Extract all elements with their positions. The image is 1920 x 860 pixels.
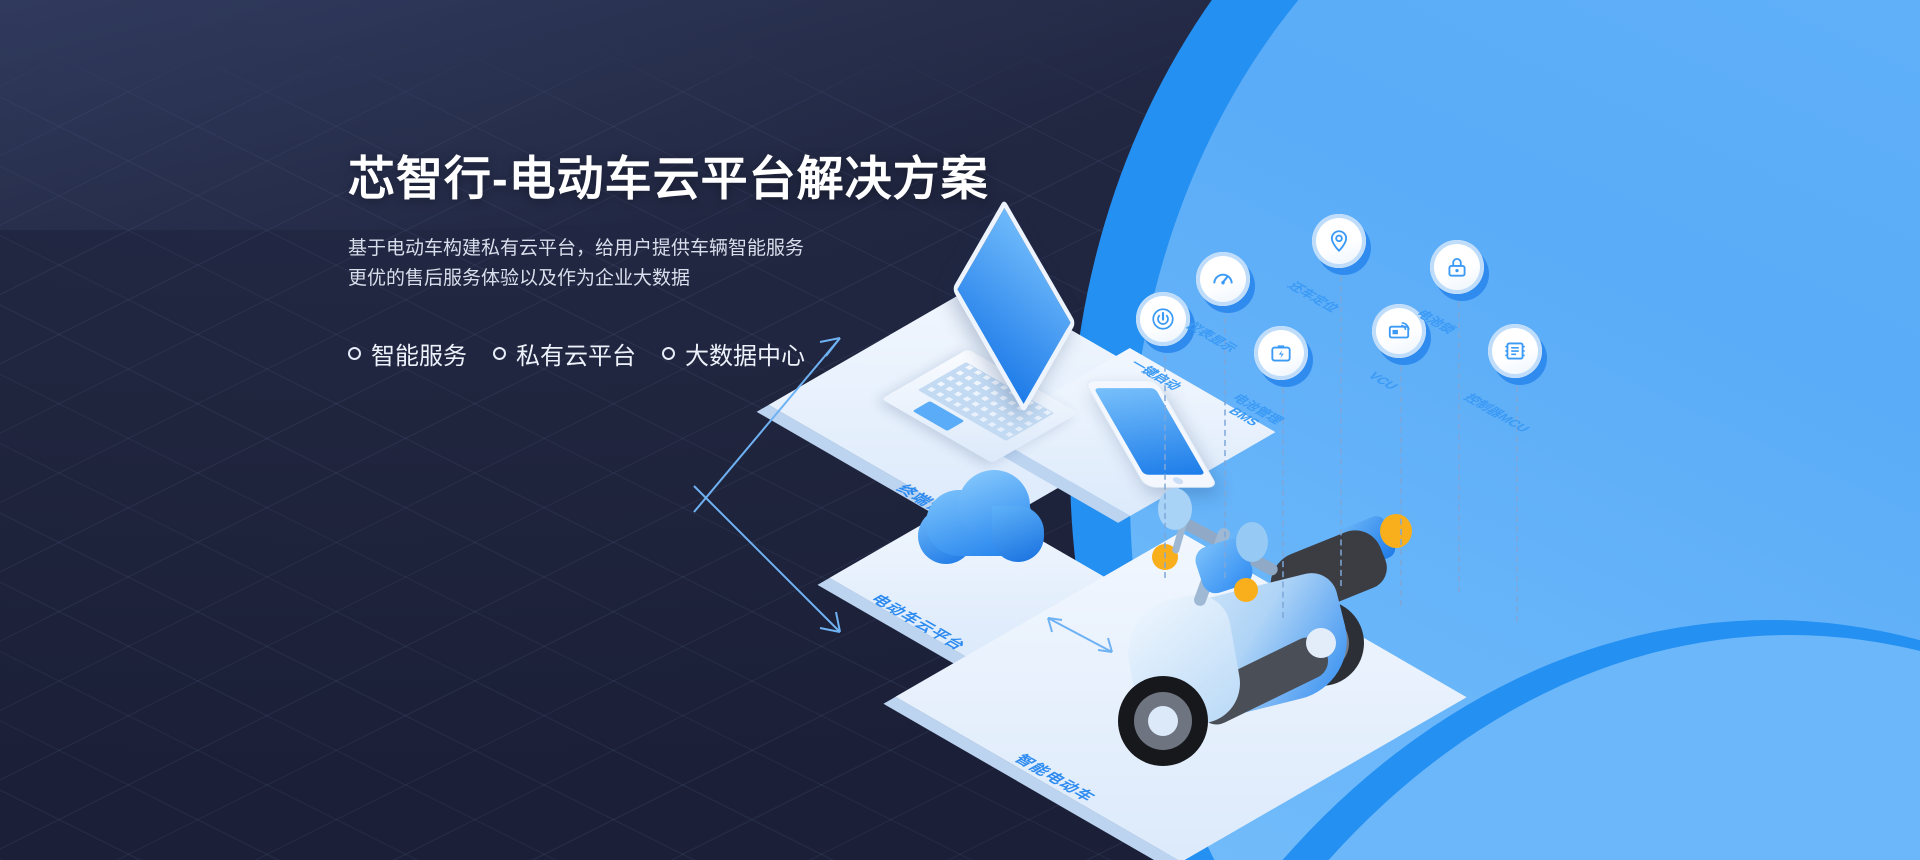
feature-item-smart-service[interactable]: 智能服务 bbox=[348, 336, 467, 371]
node-icon-power-button[interactable] bbox=[1136, 292, 1190, 346]
battery-management-icon bbox=[1268, 340, 1294, 366]
electric-scooter bbox=[1088, 480, 1418, 780]
leader-line-battery-lock bbox=[1458, 292, 1460, 592]
connector-arrow-bidirectional bbox=[1042, 610, 1122, 660]
power-button-icon bbox=[1150, 306, 1176, 332]
feature-label: 私有云平台 bbox=[516, 336, 636, 371]
cloud-icon bbox=[906, 462, 1056, 582]
mcu-chip-icon bbox=[1502, 338, 1528, 364]
node-icon-location[interactable] bbox=[1312, 214, 1366, 268]
feature-item-big-data[interactable]: 大数据中心 bbox=[662, 336, 805, 371]
node-label-vcu: VCU bbox=[1365, 370, 1402, 392]
node-icon-battery-lock[interactable] bbox=[1430, 240, 1484, 294]
location-pin-icon bbox=[1326, 228, 1352, 254]
ring-bullet-icon bbox=[662, 347, 675, 360]
page-subtitle: 基于电动车构建私有云平台，给用户提供车辆智能服务 更优的售后服务体验以及作为企业… bbox=[348, 234, 1048, 294]
ring-bullet-icon bbox=[348, 347, 361, 360]
node-label-location: 还车定位 bbox=[1285, 280, 1344, 314]
feature-list: 智能服务 私有云平台 大数据中心 bbox=[348, 336, 1048, 371]
connector-arrow-cloud bbox=[690, 480, 880, 650]
scooter-right-mirror bbox=[1236, 522, 1268, 562]
feature-label: 大数据中心 bbox=[685, 336, 805, 371]
scooter-right-indicator-icon bbox=[1234, 578, 1258, 602]
subtitle-line-2: 更优的售后服务体验以及作为企业大数据 bbox=[348, 264, 1048, 294]
scooter-front-wheel bbox=[1118, 676, 1208, 766]
battery-lock-icon bbox=[1444, 254, 1470, 280]
node-icon-dashboard[interactable] bbox=[1196, 252, 1250, 306]
vcu-controller-icon bbox=[1386, 318, 1412, 344]
leader-line-bms bbox=[1282, 378, 1284, 618]
hero-banner: 芯智行-电动车云平台解决方案 基于电动车构建私有云平台，给用户提供车辆智能服务 … bbox=[0, 0, 1920, 860]
leader-line-location bbox=[1340, 266, 1342, 586]
hero-copy: 芯智行-电动车云平台解决方案 基于电动车构建私有云平台，给用户提供车辆智能服务 … bbox=[348, 150, 1048, 371]
page-title: 芯智行-电动车云平台解决方案 bbox=[348, 150, 1048, 208]
subtitle-line-1: 基于电动车构建私有云平台，给用户提供车辆智能服务 bbox=[348, 234, 1048, 264]
feature-item-private-cloud[interactable]: 私有云平台 bbox=[493, 336, 636, 371]
node-label-dashboard: 仪表显示 bbox=[1183, 320, 1242, 354]
dashboard-gauge-icon bbox=[1210, 266, 1236, 292]
node-icon-mcu[interactable] bbox=[1488, 324, 1542, 378]
node-label-mcu: 控制器MCU bbox=[1461, 392, 1534, 434]
feature-label: 智能服务 bbox=[371, 336, 467, 371]
node-icon-bms[interactable] bbox=[1254, 326, 1308, 380]
leader-line-vcu bbox=[1400, 356, 1402, 606]
leader-line-mcu bbox=[1516, 376, 1518, 622]
ring-bullet-icon bbox=[493, 347, 506, 360]
scooter-taillight-icon bbox=[1380, 514, 1412, 548]
